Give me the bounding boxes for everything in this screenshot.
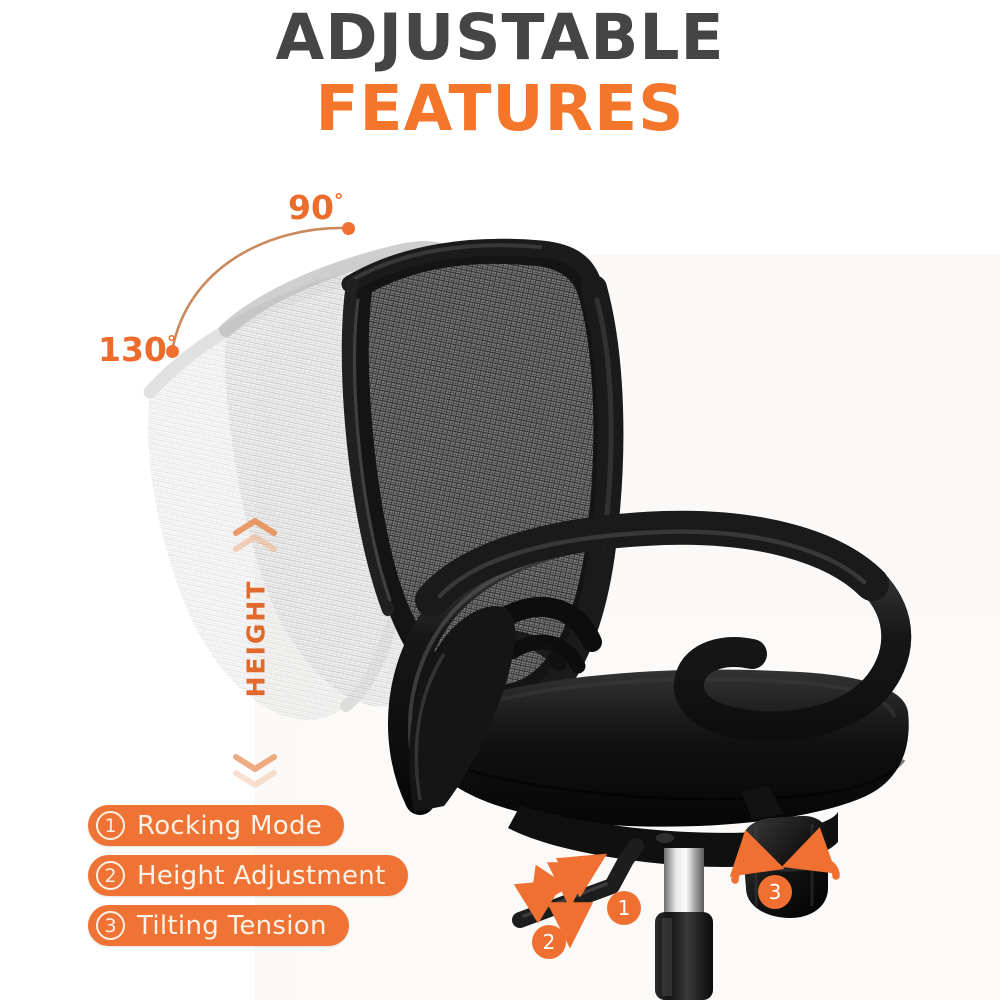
height-marker: HEIGHT xyxy=(232,512,292,802)
headline-line-2: FEATURES xyxy=(0,74,1000,144)
feature-item-tilting-tension[interactable]: 3 Tilting Tension xyxy=(88,905,349,946)
chevron-double-down-icon xyxy=(232,768,278,790)
feature-item-height-adjustment[interactable]: 2 Height Adjustment xyxy=(88,855,408,896)
feature-label: Tilting Tension xyxy=(137,911,327,941)
feature-number: 1 xyxy=(96,811,125,840)
recline-angle-upright: 90° xyxy=(288,188,343,227)
recline-angle-reclined: 130° xyxy=(98,330,176,369)
recline-dot-upright xyxy=(342,222,355,235)
recline-angle-reclined-value: 130 xyxy=(98,330,167,369)
callout-badge-1: 1 xyxy=(607,891,641,925)
callout-badge-3: 3 xyxy=(758,875,792,909)
headline-line-1: ADJUSTABLE xyxy=(0,2,1000,74)
feature-item-rocking-mode[interactable]: 1 Rocking Mode xyxy=(88,805,344,846)
feature-label: Height Adjustment xyxy=(137,861,386,891)
chevron-double-up-icon xyxy=(232,532,278,554)
degree-symbol-icon: ° xyxy=(334,190,344,212)
product-feature-infographic: ADJUSTABLE FEATURES 90° 130° HEIGHT 1 Ro… xyxy=(0,0,1000,1000)
recline-dot-reclined xyxy=(166,345,179,358)
height-marker-label: HEIGHT xyxy=(242,579,271,699)
callout-badge-2: 2 xyxy=(532,925,566,959)
feature-label: Rocking Mode xyxy=(137,811,322,841)
feature-number: 2 xyxy=(96,861,125,890)
recline-angle-upright-value: 90 xyxy=(288,188,334,227)
feature-number: 3 xyxy=(96,911,125,940)
headline: ADJUSTABLE FEATURES xyxy=(0,0,1000,144)
feature-list: 1 Rocking Mode 2 Height Adjustment 3 Til… xyxy=(88,805,408,955)
